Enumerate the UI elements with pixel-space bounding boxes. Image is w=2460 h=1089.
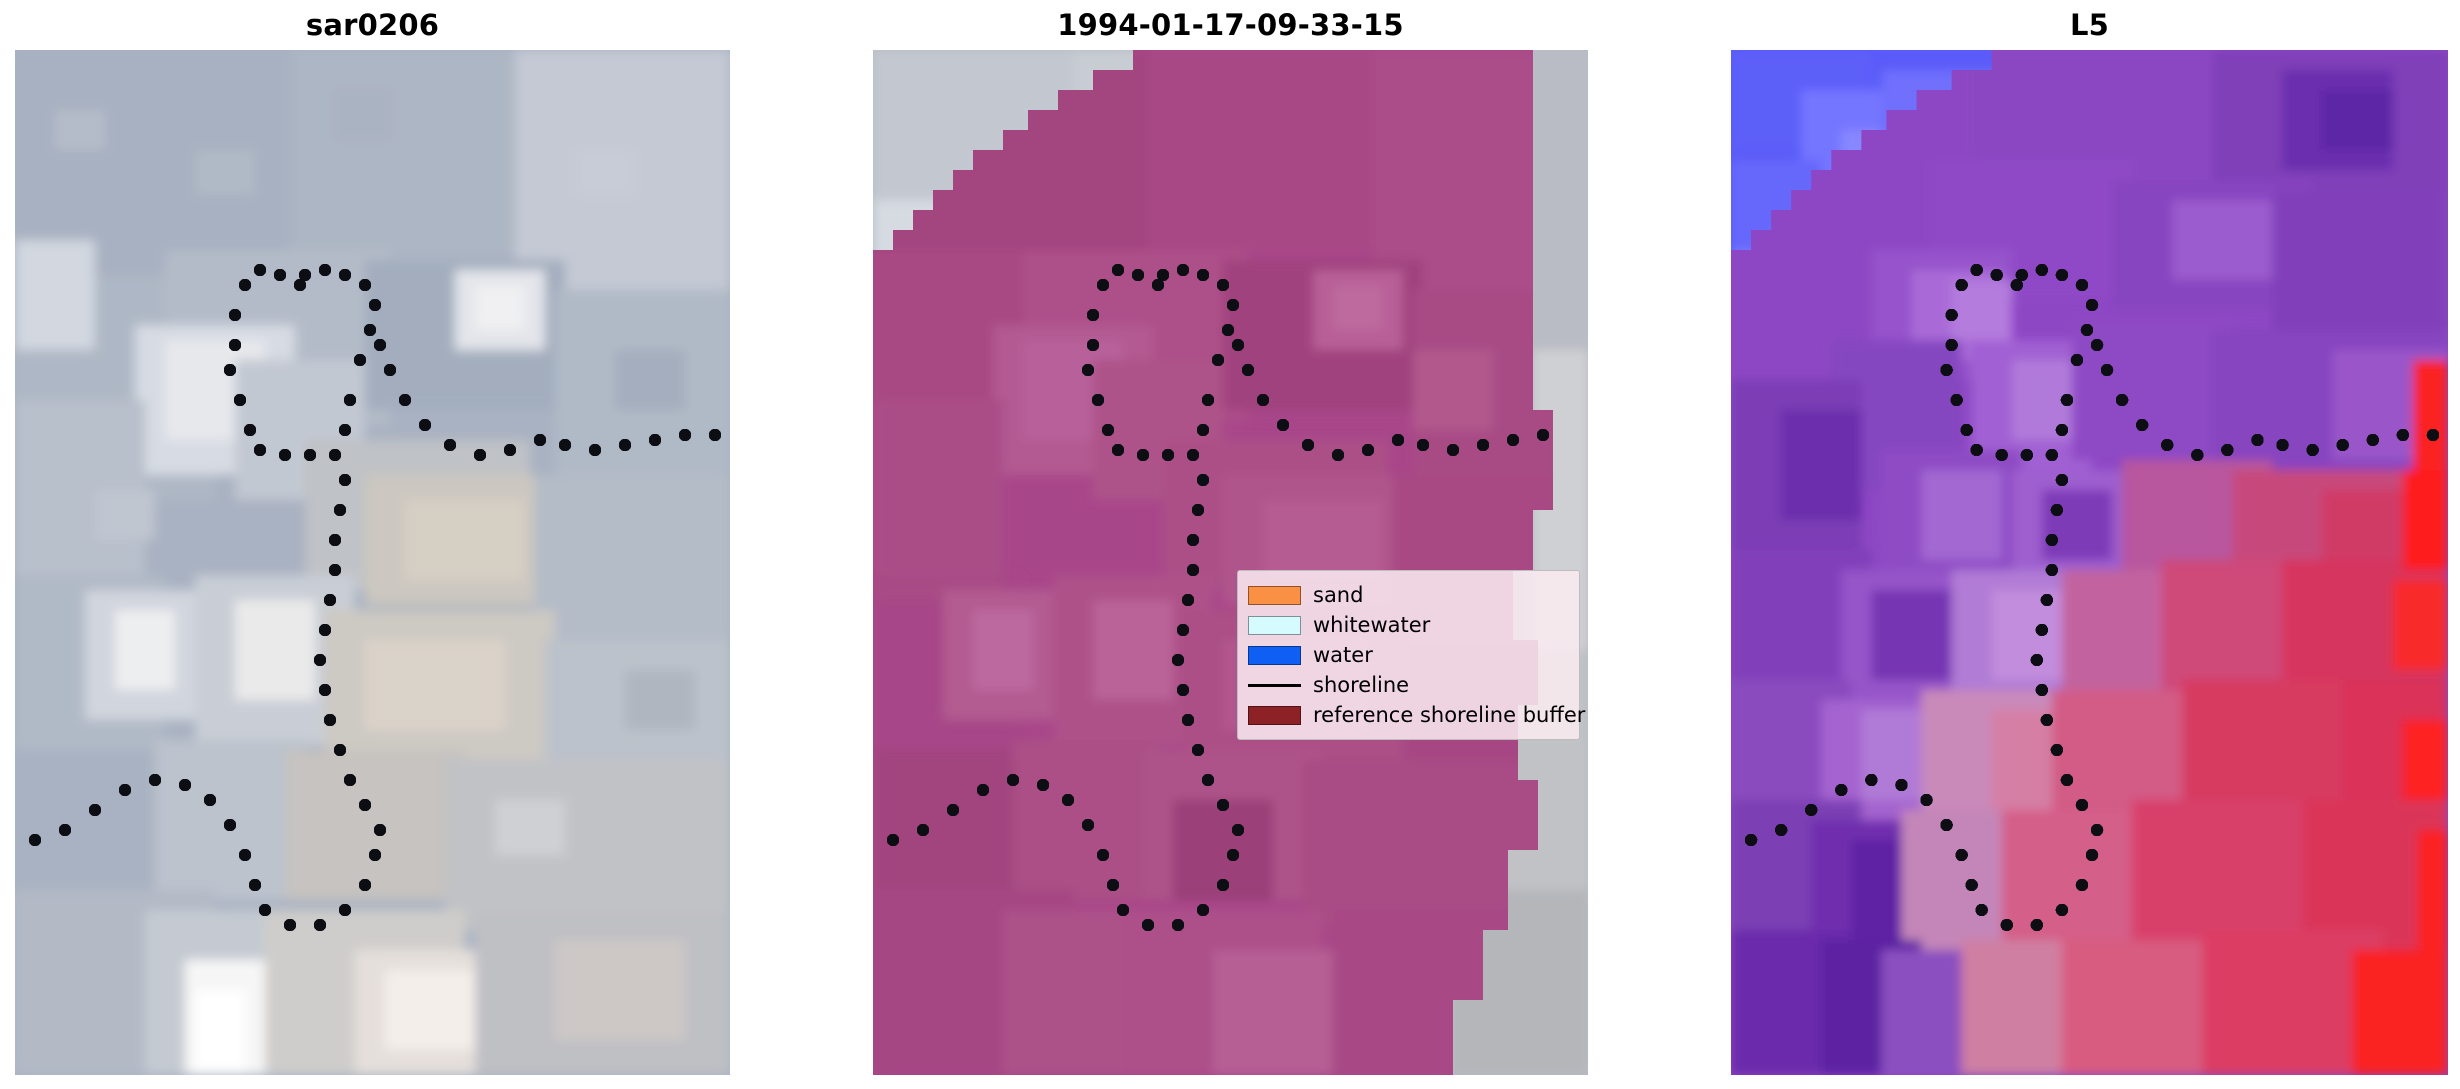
reference-shoreline-buffer-swatch	[1248, 706, 1301, 725]
legend-label-sand: sand	[1313, 585, 1363, 606]
figure-canvas: sar0206 1994-01-17-09-33-15 L5	[0, 0, 2460, 1089]
legend-item-sand: sand	[1248, 580, 1569, 610]
legend-item-reference-buffer: reference shoreline buffer	[1248, 700, 1569, 730]
legend-item-water: water	[1248, 640, 1569, 670]
classified-raster	[873, 50, 1588, 1075]
panel-title-l5: L5	[1731, 8, 2448, 42]
legend-label-reference-buffer: reference shoreline buffer	[1313, 705, 1585, 726]
sand-swatch	[1248, 586, 1301, 605]
sar-raster	[15, 50, 730, 1075]
l5-raster	[1731, 50, 2448, 1075]
whitewater-swatch	[1248, 616, 1301, 635]
legend-label-water: water	[1313, 645, 1373, 666]
panel-classified-overlay[interactable]	[873, 50, 1588, 1075]
shoreline-line-swatch	[1248, 684, 1301, 687]
legend-item-shoreline: shoreline	[1248, 670, 1569, 700]
legend-item-whitewater: whitewater	[1248, 610, 1569, 640]
map-legend: sand whitewater water shoreline referenc…	[1237, 570, 1580, 740]
water-swatch	[1248, 646, 1301, 665]
panel-title-timestamp: 1994-01-17-09-33-15	[873, 8, 1588, 42]
panel-l5[interactable]	[1731, 50, 2448, 1075]
panel-sar0206[interactable]	[15, 50, 730, 1075]
legend-label-shoreline: shoreline	[1313, 675, 1409, 696]
legend-label-whitewater: whitewater	[1313, 615, 1430, 636]
panel-title-sar: sar0206	[15, 8, 730, 42]
